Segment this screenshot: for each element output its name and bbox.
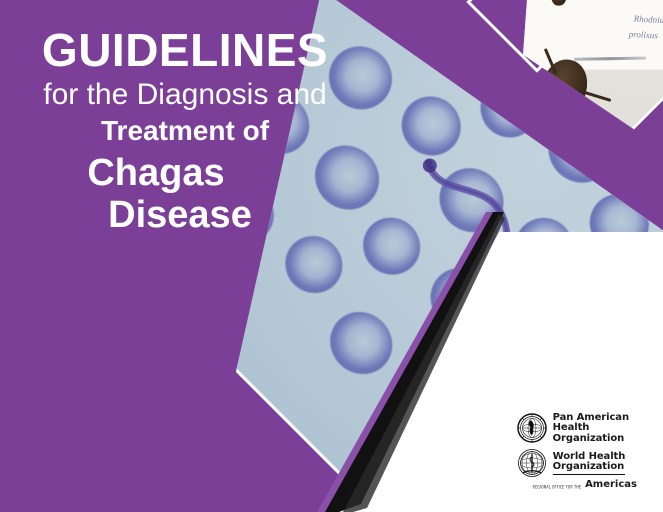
disease-name-line-2: Disease [0,194,370,236]
paho-logo: Pan American Health Organization [517,413,637,445]
paho-line-3: Organization [553,434,629,445]
regional-office-multilingual: REGIONAL OFFICE FOR THE [533,484,581,490]
who-line-2: Organization [553,462,626,475]
cover-title-block: GUIDELINES for the Diagnosis and Treatme… [0,24,370,236]
paho-globe-icon [517,413,547,443]
page-title: GUIDELINES [0,24,370,76]
subtitle-line-2: Treatment of [0,114,370,148]
who-logo: World Health Organization [517,448,637,478]
book-cover: Rhodnius prolixus GUIDELINES for the Dia… [0,0,663,512]
subtitle-line-1: for the Diagnosis and [0,78,370,112]
bug-leg [582,90,612,102]
organization-logos: Pan American Health Organization [517,413,637,491]
bug-leg [557,110,565,130]
paho-line-2: Health [553,423,629,434]
handwritten-label: Rhodnius [633,14,663,26]
bug-leg [573,103,594,130]
who-emblem-icon [517,448,547,478]
regional-office-row: REGIONAL OFFICE FOR THE Americas [533,480,637,490]
handwritten-label: prolixus [629,29,659,41]
who-logo-text: World Health Organization [553,452,626,475]
regional-office-label: Americas [585,480,637,490]
paho-logo-text: Pan American Health Organization [553,413,629,445]
disease-name-line-1: Chagas [0,152,370,194]
bug-leg [516,86,542,96]
